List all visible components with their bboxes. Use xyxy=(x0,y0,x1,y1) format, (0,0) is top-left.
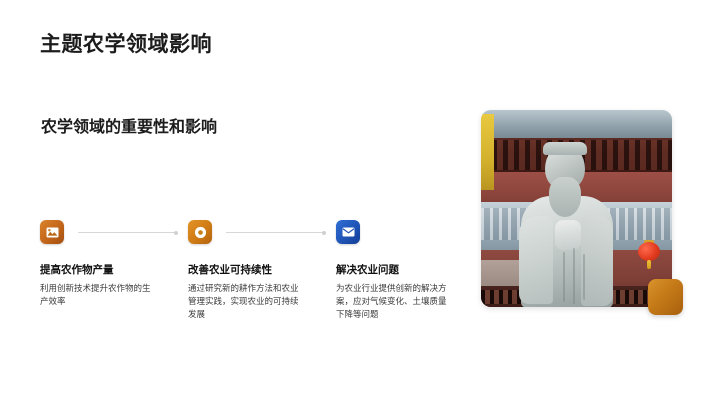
statue-hands xyxy=(555,220,581,250)
image-icon xyxy=(40,220,64,244)
statue-fold xyxy=(573,248,575,304)
target-icon xyxy=(188,220,212,244)
photo-statue-figure xyxy=(519,144,615,307)
photo-confucius-statue xyxy=(481,110,672,307)
envelope-icon xyxy=(336,220,360,244)
lantern-body xyxy=(638,242,660,261)
feature-title: 改善农业可持续性 xyxy=(188,264,308,278)
feature-item-3[interactable]: 解决农业问题 为农业行业提供创新的解决方案，应对气候变化、土壤质量下降等问题 xyxy=(336,220,456,321)
statue-fold xyxy=(583,254,585,300)
feature-item-1[interactable]: 提高农作物产量 利用创新技术提升农作物的生产效率 xyxy=(40,220,160,308)
content-photo xyxy=(481,110,672,307)
statue-sleeve-left xyxy=(519,216,553,304)
feature-title: 解决农业问题 xyxy=(336,264,456,278)
page-title: 主题农学领域影响 xyxy=(40,28,212,58)
statue-fold xyxy=(563,252,565,302)
lantern-tassel xyxy=(647,260,651,269)
connector-endpoint-icon xyxy=(322,231,326,235)
feature-description: 利用创新技术提升农作物的生产效率 xyxy=(40,282,152,308)
section-subtitle: 农学领域的重要性和影响 xyxy=(41,116,256,139)
photo-layer-yellow-banner xyxy=(481,114,494,190)
connector-endpoint-icon xyxy=(174,231,178,235)
statue-headwear xyxy=(543,142,587,155)
feature-list: 提高农作物产量 利用创新技术提升农作物的生产效率 改善农业可持续性 通过研究新的… xyxy=(40,220,460,330)
statue-sleeve-right xyxy=(581,214,613,306)
decorative-orange-square xyxy=(648,279,683,315)
statue-beard xyxy=(549,177,581,217)
feature-item-2[interactable]: 改善农业可持续性 通过研究新的耕作方法和农业管理实践，实现农业的可持续发展 xyxy=(188,220,308,321)
feature-description: 通过研究新的耕作方法和农业管理实践，实现农业的可持续发展 xyxy=(188,282,300,322)
slide-canvas: 主题农学领域影响 农学领域的重要性和影响 提高农作物产量 利用创新技术提升农作物… xyxy=(0,0,720,404)
feature-description: 为农业行业提供创新的解决方案，应对气候变化、土壤质量下降等问题 xyxy=(336,282,448,322)
photo-red-lantern xyxy=(638,240,660,264)
feature-title: 提高农作物产量 xyxy=(40,264,160,278)
